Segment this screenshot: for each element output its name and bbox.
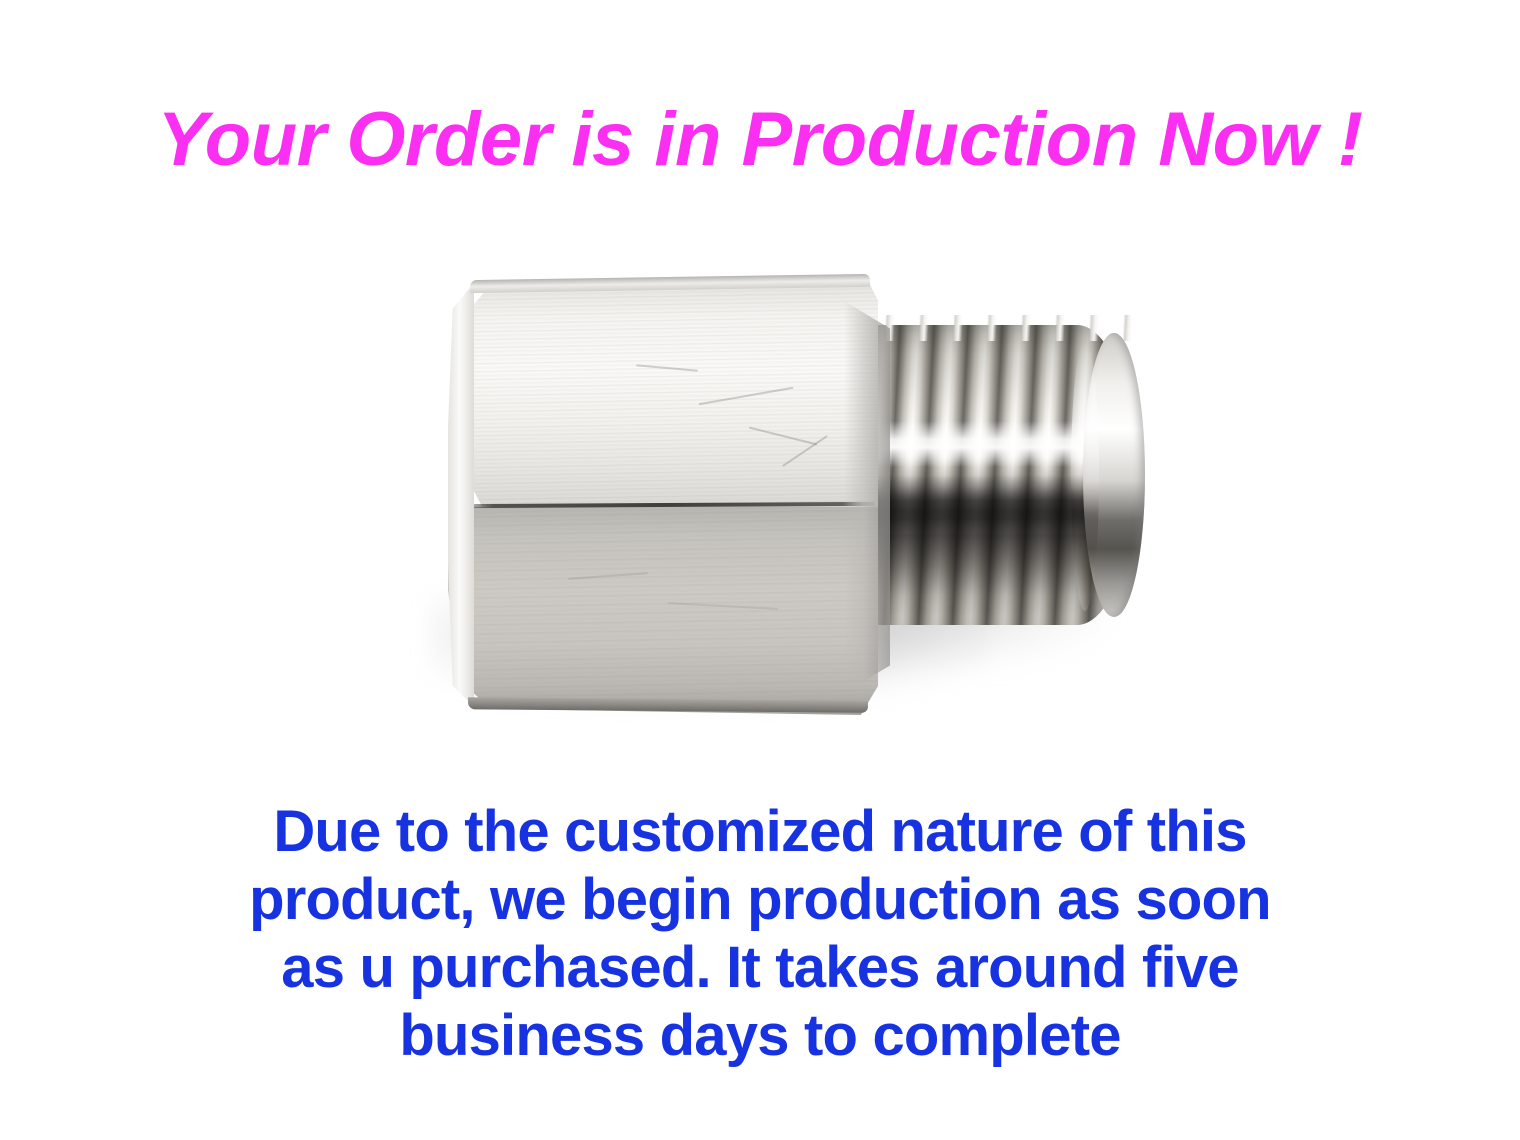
product-photo [380, 230, 1220, 790]
hex-facet-front-brushing [448, 507, 878, 715]
hex-body [448, 275, 878, 715]
production-notice: Due to the customized nature of this pro… [0, 798, 1520, 1070]
notice-line-1: Due to the customized nature of this [0, 798, 1520, 866]
page-title: Your Order is in Production Now ! [0, 96, 1520, 184]
hex-left-chamfer [448, 283, 474, 707]
hex-shoulder [844, 301, 890, 693]
notice-line-4: business days to complete [0, 1002, 1520, 1070]
hex-facet-top-brushing [448, 275, 878, 507]
notice-line-3: as u purchased. It takes around five [0, 934, 1520, 1002]
thread-end-rim [1071, 339, 1099, 611]
promo-image-canvas: Your Order is in Production Now ! [0, 0, 1520, 1140]
hex-bottom-lip [468, 697, 868, 712]
notice-line-2: product, we begin production as soon [0, 866, 1520, 934]
